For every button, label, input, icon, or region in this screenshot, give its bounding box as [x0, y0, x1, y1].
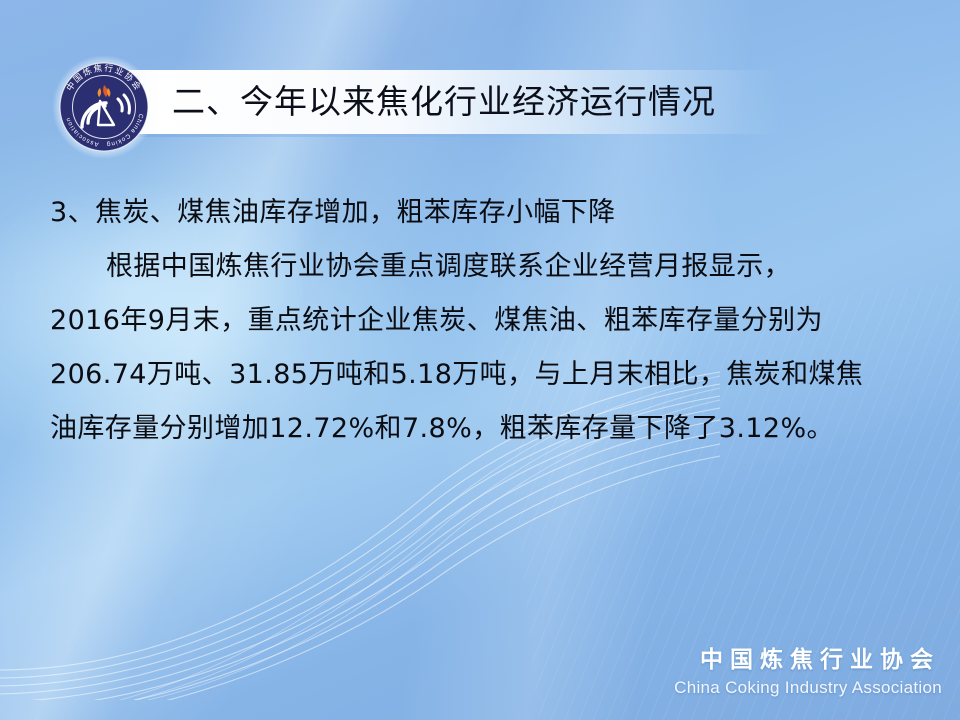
- association-logo: 中国炼焦行业协会 China Coking Association: [52, 55, 156, 159]
- body-line-5: 油库存量分别增加12.72%和7.8%，粗苯库存量下降了3.12%。: [50, 402, 930, 456]
- footer-branding: 中国炼焦行业协会 China Coking Industry Associati…: [674, 640, 942, 698]
- slide-canvas: 中国炼焦行业协会 China Coking Association 二、今年以来…: [0, 0, 960, 720]
- footer-name-en: China Coking Industry Association: [674, 678, 942, 698]
- footer-name-cn: 中国炼焦行业协会: [674, 640, 942, 674]
- body-line-1: 3、焦炭、煤焦油库存增加，粗苯库存小幅下降: [50, 186, 930, 240]
- body-content: 3、焦炭、煤焦油库存增加，粗苯库存小幅下降 根据中国炼焦行业协会重点调度联系企业…: [50, 186, 930, 456]
- body-line-2: 根据中国炼焦行业协会重点调度联系企业经营月报显示，: [50, 240, 930, 294]
- body-line-4: 206.74万吨、31.85万吨和5.18万吨，与上月末相比，焦炭和煤焦: [50, 348, 930, 402]
- body-line-3: 2016年9月末，重点统计企业焦炭、煤焦油、粗苯库存量分别为: [50, 294, 930, 348]
- page-title: 二、今年以来焦化行业经济运行情况: [172, 75, 792, 128]
